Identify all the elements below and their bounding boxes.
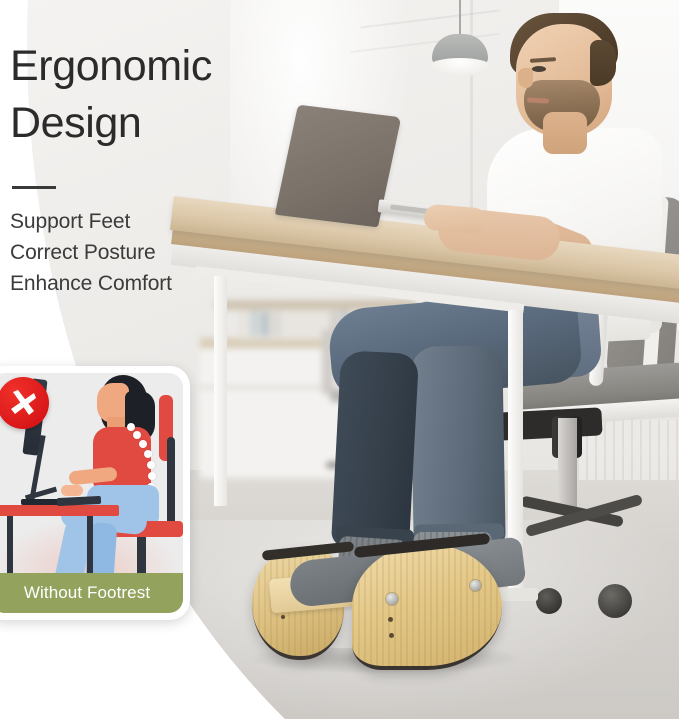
footrest-adjust-hole	[389, 633, 394, 638]
card-footer-label: Without Footrest	[24, 583, 150, 603]
footrest-adjust-hole	[281, 615, 285, 619]
desk-leg-left	[214, 276, 227, 506]
footrest-screw	[386, 593, 398, 605]
illustration-desk	[0, 505, 119, 516]
card-illustration-area: Without Footrest	[0, 373, 183, 613]
card-footer-bar: Without Footrest	[0, 573, 183, 613]
page-title: Ergonomic Design	[10, 38, 212, 152]
neck	[543, 112, 587, 154]
hand	[423, 203, 485, 234]
banner-root: Ergonomic Design Support Feet Correct Po…	[0, 0, 679, 719]
desk-foot	[498, 588, 538, 601]
book	[250, 310, 259, 336]
without-footrest-card: Without Footrest	[0, 366, 190, 620]
headline-line-2: Design	[10, 95, 212, 152]
book	[271, 309, 281, 336]
shin-far	[410, 345, 506, 549]
lamp-cord	[459, 0, 461, 38]
footrest-side-panel-right	[352, 544, 502, 670]
illustration-hand	[61, 485, 83, 496]
spine-dot	[147, 461, 155, 469]
office-chair-caster	[598, 584, 632, 618]
spine-dot	[148, 472, 156, 480]
benefits-list: Support Feet Correct Posture Enhance Com…	[10, 206, 172, 299]
mouth	[527, 97, 549, 103]
footrest-screw	[470, 580, 481, 591]
hair-side	[590, 40, 616, 86]
spine-dot	[144, 450, 152, 458]
office-chair-caster	[536, 588, 562, 614]
eye	[532, 66, 546, 72]
lamp-glow	[428, 58, 492, 76]
benefit-item-2: Correct Posture	[10, 237, 172, 268]
spine-dot	[139, 440, 147, 448]
nose	[518, 68, 533, 88]
office-chair-stem	[558, 418, 577, 514]
title-divider	[12, 186, 56, 189]
footrest-adjust-hole	[388, 617, 393, 622]
illustration-chair-spine-support	[167, 437, 175, 529]
shin-near	[331, 350, 419, 550]
book	[261, 312, 269, 336]
headline-line-1: Ergonomic	[10, 38, 212, 95]
spine-dot	[127, 423, 135, 431]
benefit-item-1: Support Feet	[10, 206, 172, 237]
spine-dot	[133, 431, 141, 439]
benefit-item-3: Enhance Comfort	[10, 268, 172, 299]
